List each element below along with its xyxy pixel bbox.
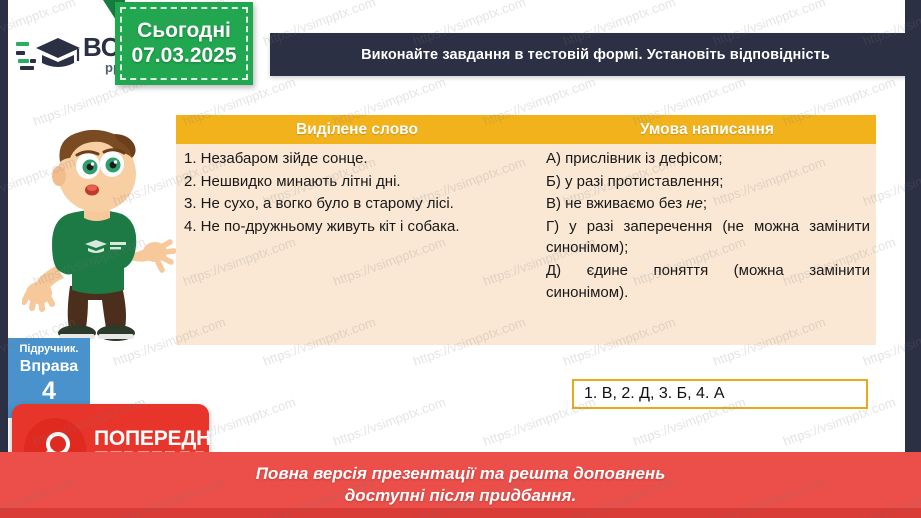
option-text: А) прислівник із дефісом; [546,150,723,167]
option-emphasis: не [686,195,703,212]
exercise-number: 4 [8,378,90,406]
list-item: Д) єдине поняття (можна замінити синонім… [546,260,870,303]
preview-line-1: ПОПЕРЕДНІЙ [94,428,232,449]
column-conditions: А) прислівник із дефісом; Б) у разі прот… [538,148,876,304]
banner-bottom-strip [0,508,921,518]
matching-task-panel: Виділене слово Умова написання 1. Незаба… [176,115,876,345]
date-badge: Сьогодні 07.03.2025 [115,2,253,85]
list-item: 3. Не сухо, а вогко було в старому лісі. [184,193,532,215]
banner-line-2: доступні після придбання. [345,485,576,507]
date-badge-inner: Сьогодні 07.03.2025 [120,7,248,80]
answer-box: 1. В, 2. Д, 3. Б, 4. А [572,379,868,409]
textbook-label: Підручник. [8,342,90,356]
graduation-cap-icon [16,33,82,75]
table-body: 1. Незабаром зійде сонце. 2. Нешвидко ми… [176,144,876,304]
column-header-word: Виділене слово [176,115,538,144]
list-item: А) прислівник із дефісом; [546,148,870,170]
list-item: Б) у разі протиставлення; [546,171,870,193]
list-item: 1. Незабаром зійде сонце. [184,148,532,170]
option-text: Д) єдине поняття (можна замінити синонім… [546,262,870,301]
list-item: 2. Нешвидко минають літні дні. [184,171,532,193]
banner-line-1: Повна версія презентації та решта доповн… [256,463,666,485]
column-header-condition: Умова написання [538,115,876,144]
exercise-label: Вправа [8,356,90,378]
table-header-row: Виділене слово Умова написання [176,115,876,144]
option-text: Г) у разі заперечення (не можна замінити… [546,218,870,257]
list-item: Г) у разі заперечення (не можна замінити… [546,216,870,259]
option-text: В) не вживаємо без [546,195,686,212]
list-item: В) не вживаємо без не; [546,193,870,215]
answer-text: 1. В, 2. Д, 3. Б, 4. А [584,385,725,403]
column-words: 1. Незабаром зійде сонце. 2. Нешвидко ми… [176,148,538,304]
page-title: Виконайте завдання в тестовій формі. Уст… [349,47,842,63]
option-text-tail: ; [703,195,707,212]
date-label: Сьогодні [137,19,231,43]
slide-title-bar: Виконайте завдання в тестовій формі. Уст… [270,33,905,76]
list-item: 4. Не по-дружньому живуть кіт і собака. [184,216,532,238]
slide-canvas: ВСІМ pptx Сьогодні 07.03.2025 Виконайте … [0,0,921,518]
cartoon-boy-illustration [22,118,182,353]
option-text: Б) у разі протиставлення; [546,173,723,190]
date-value: 07.03.2025 [131,43,236,68]
